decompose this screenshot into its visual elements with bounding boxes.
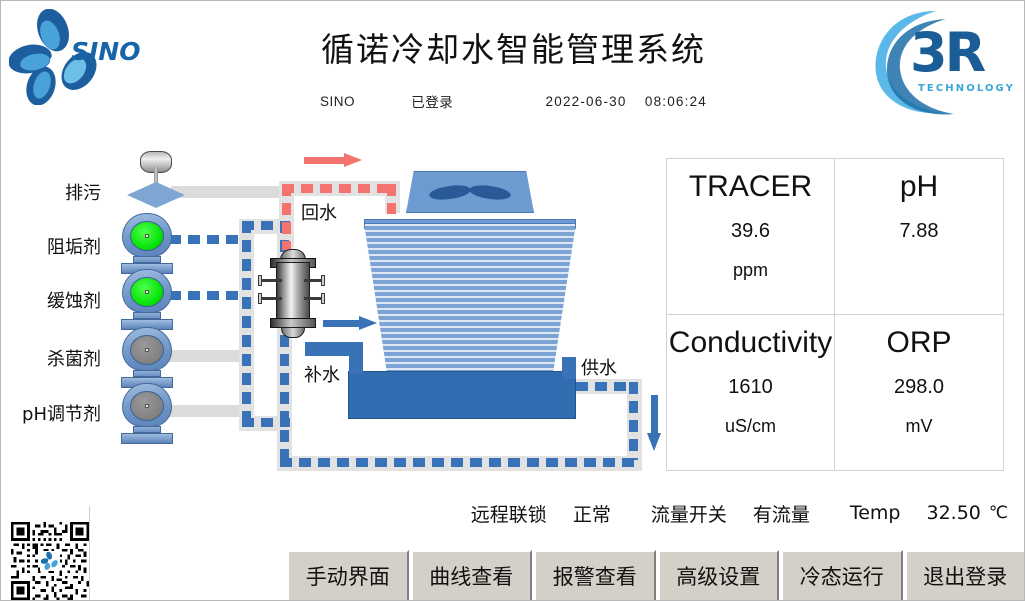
measurement-name: ORP (886, 326, 951, 359)
measurement-card-tracer[interactable]: TRACER 39.6 ppm (667, 159, 835, 315)
current-date: 2022-06-30 (546, 94, 627, 109)
measurement-name: TRACER (689, 170, 812, 203)
pipe-supply-riser (562, 357, 576, 379)
pipe-dose-header-vertical (242, 221, 251, 429)
flow-switch-label: 流量开关 (651, 500, 727, 527)
label-return-water: 回水 (301, 199, 337, 225)
analyzer-probe-tip-icon (321, 293, 325, 304)
remote-interlock-label: 远程联锁 (471, 500, 547, 527)
measurement-card-conductivity[interactable]: Conductivity 1610 uS/cm (667, 315, 835, 471)
water-quality-analyzer[interactable] (264, 249, 322, 341)
tower-fill-body (364, 223, 576, 375)
pump-scale-inhibitor[interactable] (119, 213, 175, 275)
pump-base-icon (121, 433, 173, 444)
analyzer-probe-left-lower-icon (260, 297, 282, 300)
navigation-button-bar: 手动界面 曲线查看 报警查看 高级设置 冷态运行 退出登录 (287, 550, 1025, 601)
current-time: 08:06:24 (645, 94, 707, 109)
analyzer-probe-tip-icon (258, 293, 262, 304)
3r-technology-logo: 3R TECHNOLOGY (858, 3, 1018, 121)
label-ph-adjuster: pH调节剂 (13, 400, 101, 426)
analyzer-foot-icon (281, 327, 305, 338)
label-biocide: 杀菌剂 (29, 345, 101, 371)
valve-body-right-icon (156, 182, 185, 208)
button-cold-start-run[interactable]: 冷态运行 (781, 550, 903, 601)
temperature-label: Temp (850, 502, 901, 524)
application-window: SINO 循诺冷却水智能管理系统 SINO 已登录 2022-06-30 08:… (0, 0, 1025, 601)
blowdown-valve[interactable] (121, 149, 191, 211)
measurement-card-ph[interactable]: pH 7.88 (835, 159, 1003, 315)
pump-center-dot-icon (145, 290, 149, 294)
pump-corrosion-inhibitor[interactable] (119, 269, 175, 331)
analyzer-probe-tip-icon (258, 275, 262, 286)
button-manual-interface[interactable]: 手动界面 (287, 550, 409, 601)
pump-center-dot-icon (145, 404, 149, 408)
measurement-name: pH (900, 170, 938, 203)
arrow-head (359, 316, 377, 330)
pump-biocide[interactable] (119, 327, 175, 389)
qr-divider (89, 506, 90, 601)
measurement-value: 1610 (728, 376, 773, 399)
analyzer-probe-tip-icon (321, 275, 325, 286)
arrow-shaft (651, 395, 658, 435)
measurement-value: 7.88 (900, 220, 939, 243)
pump-center-dot-icon (145, 234, 149, 238)
measurement-panel: TRACER 39.6 ppm pH 7.88 Conductivity 161… (666, 158, 1004, 471)
pipe-biocide-line (169, 350, 247, 362)
label-corrosion-inhibitor: 缓蚀剂 (29, 287, 101, 313)
label-supply-water: 供水 (581, 354, 617, 380)
pipe-ph-line (169, 405, 247, 417)
qr-center-logo (40, 551, 60, 571)
3r-wordmark: 3R (910, 21, 983, 84)
pipe-supply-outlet (576, 382, 634, 391)
pipe-return-water-to-tower (387, 184, 396, 214)
analyzer-probe-left-upper-icon (260, 279, 282, 282)
label-blowdown: 排污 (29, 179, 101, 205)
pump-center-dot-icon (145, 348, 149, 352)
arrow-shaft (323, 320, 361, 327)
measurement-card-orp[interactable]: ORP 298.0 mV (835, 315, 1003, 471)
label-makeup-water: 补水 (304, 361, 340, 387)
logged-in-user: SINO (320, 94, 355, 109)
measurement-unit: ppm (733, 260, 768, 281)
qr-code[interactable] (11, 522, 89, 600)
pump-neck-icon (133, 426, 161, 433)
button-logout[interactable]: 退出登录 (905, 550, 1025, 601)
button-advanced-settings[interactable]: 高级设置 (658, 550, 780, 601)
remote-interlock-value: 正常 (573, 500, 611, 527)
measurement-unit: uS/cm (725, 416, 776, 437)
flow-switch-value: 有流量 (753, 500, 810, 527)
pump-neck-icon (133, 370, 161, 377)
pipe-makeup-vertical (349, 342, 363, 374)
pipe-return-water-down (282, 184, 291, 250)
analyzer-body-icon (276, 262, 310, 324)
button-alarm-view[interactable]: 报警查看 (534, 550, 656, 601)
measurement-unit: mV (906, 416, 933, 437)
tower-basin (348, 371, 576, 419)
label-scale-inhibitor: 阻垢剂 (29, 233, 101, 259)
temperature-value: 32.50 (927, 502, 981, 524)
pipe-loop-bottom (280, 458, 638, 467)
pump-neck-icon (133, 256, 161, 263)
header-bar: SINO 循诺冷却水智能管理系统 SINO 已登录 2022-06-30 08:… (1, 1, 1025, 129)
arrow-supply-water (649, 395, 659, 451)
measurement-value: 39.6 (731, 220, 770, 243)
status-bar: 远程联锁 正常 流量开关 有流量 Temp 32.50 ℃ (1, 495, 1025, 531)
arrow-head (647, 433, 661, 451)
arrow-shaft (304, 157, 346, 164)
pump-neck-icon (133, 312, 161, 319)
arrow-return-water (304, 155, 362, 165)
sino-flower-mini-icon (41, 552, 59, 570)
3r-tagline: TECHNOLOGY (918, 83, 1015, 94)
button-trend-view[interactable]: 曲线查看 (411, 550, 533, 601)
pipe-loop-right (629, 382, 638, 460)
arrow-head (344, 153, 362, 167)
measurement-name: Conductivity (669, 326, 832, 359)
pipe-return-water-top (282, 184, 392, 193)
valve-body-left-icon (127, 182, 156, 208)
arrow-makeup-water (323, 318, 377, 328)
pump-ph-adjuster[interactable] (119, 383, 175, 445)
temperature-unit: ℃ (989, 503, 1008, 523)
measurement-value: 298.0 (894, 376, 944, 399)
login-status: 已登录 (411, 91, 453, 111)
